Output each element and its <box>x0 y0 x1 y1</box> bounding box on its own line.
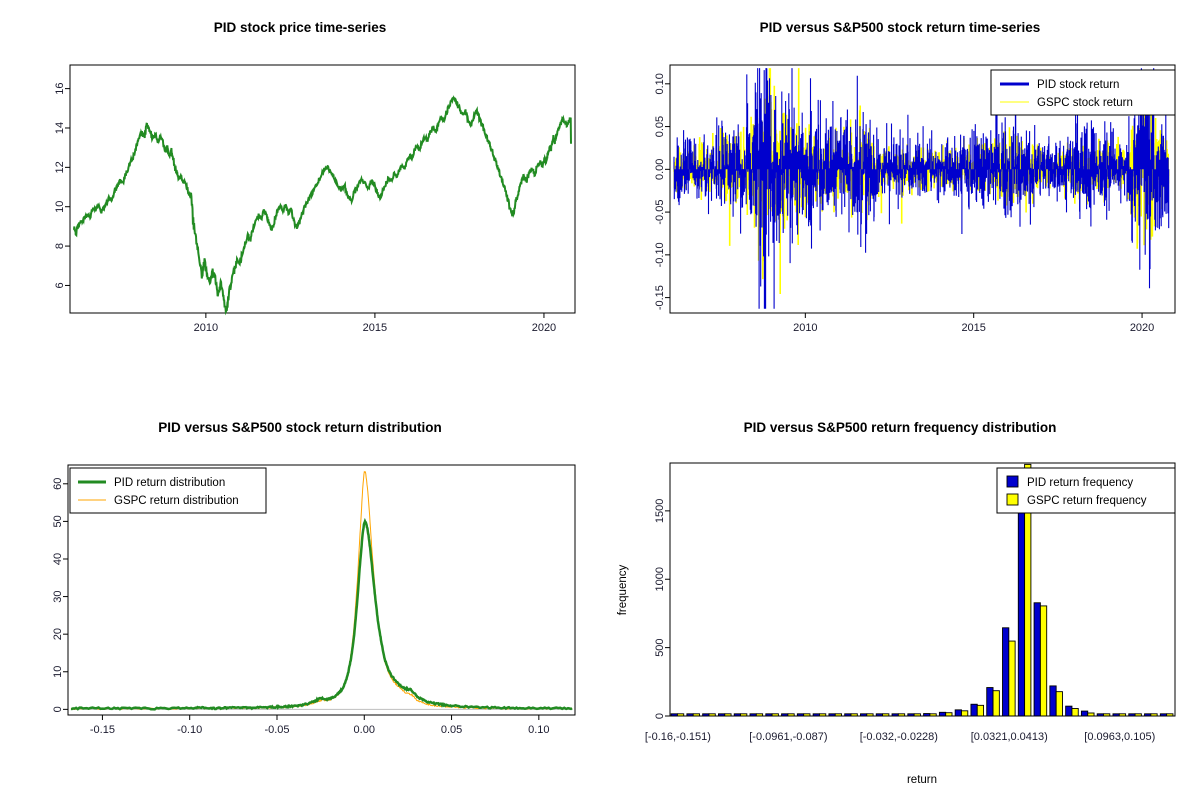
x-tick-label: [-0.032,-0.0228) <box>860 731 938 743</box>
y-tick-label: 0 <box>52 706 64 712</box>
bar-pid <box>939 712 945 716</box>
x-axis-return-distribution: -0.15-0.10-0.050.000.050.10 <box>90 715 550 736</box>
y-tick-label: 0 <box>654 713 666 719</box>
panel-title-return-distribution: PID versus S&P500 stock return distribut… <box>158 420 442 435</box>
x-tick-label: 2015 <box>961 322 985 334</box>
panel-pid-price-timeseries: PID stock price time-series 6810121416 2… <box>0 0 600 400</box>
plot-area-pid-price: 6810121416 201020152020 <box>54 65 575 334</box>
legend-label: GSPC return distribution <box>114 495 239 507</box>
y-tick-label: -0.05 <box>654 200 666 225</box>
x-axis-pid-price: 201020152020 <box>194 313 557 334</box>
chart-return-frequency: PID versus S&P500 return frequency distr… <box>600 400 1200 800</box>
y-axis-return-distribution: 0102030405060 <box>52 478 68 713</box>
x-tick-label: -0.10 <box>177 724 202 736</box>
series-pid-return-distribution <box>71 521 572 709</box>
y-tick-label: 50 <box>52 515 64 527</box>
panel-title-return-timeseries: PID versus S&P500 stock return time-seri… <box>760 20 1041 35</box>
y-axis-return-timeseries: -0.15-0.10-0.050.000.050.10 <box>654 73 670 310</box>
bar-pid <box>1034 603 1040 716</box>
y-tick-label: 20 <box>52 628 64 640</box>
y-tick-label: 30 <box>52 590 64 602</box>
panel-pid-gspc-return-timeseries: PID versus S&P500 stock return time-seri… <box>600 0 1200 400</box>
plot-area-return-timeseries: -0.15-0.10-0.050.000.050.10 201020152020… <box>654 65 1175 334</box>
y-tick-label: -0.10 <box>654 242 666 267</box>
y-tick-label: 10 <box>54 201 66 213</box>
bar-gspc <box>961 711 967 716</box>
x-tick-label: -0.15 <box>90 724 115 736</box>
bar-gspc <box>1072 708 1078 716</box>
legend-label: PID return frequency <box>1027 477 1133 489</box>
bar-gspc <box>993 691 999 716</box>
bar-pid <box>971 704 977 716</box>
bar-gspc <box>1040 606 1046 716</box>
y-tick-label: 1000 <box>654 567 666 591</box>
x-tick-label: 2020 <box>1130 322 1154 334</box>
bar-gspc <box>1009 641 1015 716</box>
legend-swatch-box <box>1007 494 1018 505</box>
y-axis-title-frequency: frequency <box>617 565 629 616</box>
bar-pid <box>1003 628 1009 716</box>
legend-swatch-box <box>1007 476 1018 487</box>
y-axis-pid-price: 6810121416 <box>54 82 70 288</box>
x-tick-label: [-0.16,-0.151) <box>645 731 711 743</box>
y-tick-label: 500 <box>654 638 666 656</box>
y-tick-label: 1500 <box>654 499 666 523</box>
plot-area-return-distribution: 0102030405060 -0.15-0.10-0.050.000.050.1… <box>52 465 575 736</box>
x-tick-label: 2010 <box>194 322 218 334</box>
x-axis-return-frequency: [-0.16,-0.151)[-0.0961,-0.087)[-0.032,-0… <box>645 716 1175 743</box>
y-tick-label: 0.00 <box>654 159 666 180</box>
bar-pid <box>1050 686 1056 716</box>
x-tick-label: 0.10 <box>528 724 549 736</box>
legend-label: GSPC stock return <box>1037 97 1133 109</box>
plot-area-return-frequency: 050010001500 [-0.16,-0.151)[-0.0961,-0.0… <box>617 463 1175 786</box>
x-axis-title-return: return <box>907 774 937 786</box>
x-tick-label: -0.05 <box>264 724 289 736</box>
y-tick-label: 0.10 <box>654 73 666 94</box>
legend-label: PID stock return <box>1037 79 1119 91</box>
x-tick-label: 2010 <box>793 322 817 334</box>
series-line-pid-price <box>74 98 571 312</box>
y-tick-label: 10 <box>52 666 64 678</box>
legend-return-timeseries[interactable]: PID stock returnGSPC stock return <box>991 70 1175 115</box>
y-tick-label: 0.05 <box>654 116 666 137</box>
panel-title-return-frequency: PID versus S&P500 return frequency distr… <box>744 420 1057 435</box>
legend-return-distribution[interactable]: PID return distributionGSPC return distr… <box>70 468 266 513</box>
bar-pid <box>955 710 961 716</box>
y-tick-label: 40 <box>52 553 64 565</box>
y-tick-label: 6 <box>54 282 66 288</box>
x-tick-label: [0.0321,0.0413) <box>971 731 1048 743</box>
x-tick-label: [-0.0961,-0.087) <box>749 731 827 743</box>
chart-pid-price: PID stock price time-series 6810121416 2… <box>0 0 600 400</box>
y-tick-label: 60 <box>52 478 64 490</box>
bar-gspc <box>1056 692 1062 716</box>
legend-label: GSPC return frequency <box>1027 495 1147 507</box>
x-tick-label: 2020 <box>532 322 556 334</box>
plot-frame <box>70 65 575 313</box>
panel-pid-gspc-return-frequency: PID versus S&P500 return frequency distr… <box>600 400 1200 800</box>
y-tick-label: 16 <box>54 82 66 94</box>
x-tick-label: 0.00 <box>354 724 375 736</box>
chart-return-distribution: PID versus S&P500 stock return distribut… <box>0 400 600 800</box>
x-axis-return-timeseries: 201020152020 <box>793 313 1154 334</box>
legend-return-frequency[interactable]: PID return frequencyGSPC return frequenc… <box>997 468 1175 513</box>
bar-pid <box>1066 706 1072 716</box>
x-tick-label: [0.0963,0.105) <box>1084 731 1155 743</box>
legend-label: PID return distribution <box>114 477 225 489</box>
panel-pid-gspc-return-distribution: PID versus S&P500 stock return distribut… <box>0 400 600 800</box>
y-tick-label: 8 <box>54 243 66 249</box>
y-tick-label: -0.15 <box>654 285 666 310</box>
bar-pid <box>1018 497 1024 716</box>
x-tick-label: 0.05 <box>441 724 462 736</box>
y-tick-label: 12 <box>54 161 66 173</box>
panel-title-pid-price: PID stock price time-series <box>214 20 387 35</box>
figure-grid: PID stock price time-series 6810121416 2… <box>0 0 1200 800</box>
y-axis-return-frequency: 050010001500 <box>654 499 670 719</box>
x-tick-label: 2015 <box>363 322 387 334</box>
bar-gspc <box>977 705 983 716</box>
y-tick-label: 14 <box>54 122 66 134</box>
bar-pid <box>1081 711 1087 716</box>
chart-return-timeseries: PID versus S&P500 stock return time-seri… <box>600 0 1200 400</box>
bar-pid <box>987 688 993 716</box>
